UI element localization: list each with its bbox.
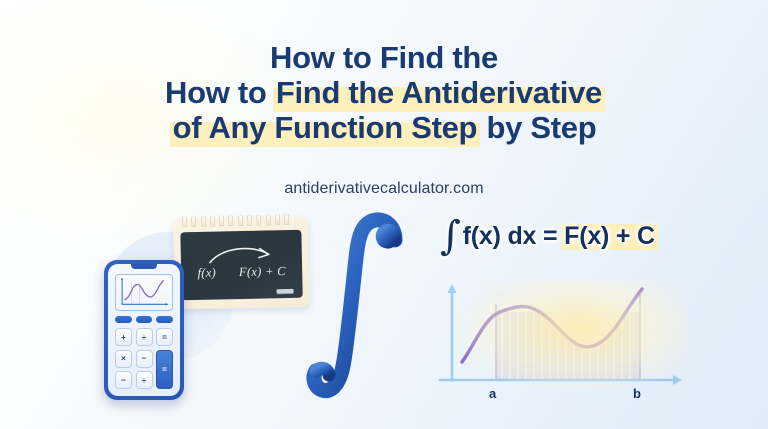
chart-glow <box>458 280 688 388</box>
notepad-chalkboard: f(x) F(x) + C <box>173 217 310 310</box>
curved-arrow-icon <box>208 244 274 265</box>
eraser-icon <box>277 289 294 293</box>
page-title: How to Find the How to Find the Antideri… <box>0 40 768 145</box>
title-line-2: How to Find the Antiderivative <box>0 75 768 110</box>
calculator-device: + ÷ = × − = − ÷ <box>104 260 184 400</box>
title-line-1: How to Find the <box>0 40 768 75</box>
calculator-key[interactable]: = <box>156 328 173 346</box>
antiderivative-formula: ∫f(x) dx = F(x) + C <box>440 222 740 251</box>
title-line-1-text: How to Find the <box>270 40 498 75</box>
phone-notch <box>131 264 157 269</box>
integral-icon <box>300 206 420 406</box>
chalkboard-from-expression: f(x) <box>197 266 216 280</box>
integral-symbol-graphic <box>300 206 420 406</box>
title-line-3-highlight: of Any Function Step <box>172 110 479 145</box>
formula-integrand: f(x) dx = <box>463 222 565 250</box>
line-chart-icon <box>116 275 172 310</box>
hero-banner: How to Find the How to Find the Antideri… <box>0 0 768 429</box>
calculator-keypad: + ÷ = × − = − ÷ <box>115 328 173 389</box>
calculator-key[interactable]: + <box>115 328 132 346</box>
title-line-3-suffix: by Step <box>478 110 596 145</box>
formula-and-graph: ∫f(x) dx = F(x) + C <box>432 222 732 412</box>
upper-limit-label: b <box>633 386 641 401</box>
formula-result: F(x) + C <box>564 222 655 251</box>
title-line-3: of Any Function Step by Step <box>0 110 768 145</box>
title-line-2-prefix: How to <box>165 75 275 110</box>
chalkboard-to-expression: F(x) + C <box>239 264 286 279</box>
calculator-equals-key[interactable]: = <box>156 350 173 390</box>
calculator-body: + ÷ = × − = − ÷ <box>108 264 180 396</box>
title-line-2-highlight: Find the Antiderivative <box>275 75 603 110</box>
formula-integral-sign: ∫ <box>440 213 461 259</box>
chalkboard-equation: f(x) F(x) + C <box>181 264 302 282</box>
calculator-key[interactable]: − <box>136 350 153 368</box>
calculator-key[interactable]: ÷ <box>136 328 153 346</box>
calculator-display-bars <box>115 316 173 323</box>
spiral-binding-icon <box>182 214 289 227</box>
calculator-key[interactable]: ÷ <box>136 371 153 389</box>
integral-area-chart: a b <box>432 274 732 404</box>
calculator-screen <box>115 274 173 311</box>
site-url: antiderivativecalculator.com <box>0 180 768 198</box>
chalkboard-surface: f(x) F(x) + C <box>180 230 302 301</box>
lower-limit-label: a <box>489 386 496 401</box>
calculator-illustration: f(x) F(x) + C <box>96 212 311 407</box>
calculator-key[interactable]: − <box>115 371 132 389</box>
calculator-key[interactable]: × <box>115 350 132 368</box>
